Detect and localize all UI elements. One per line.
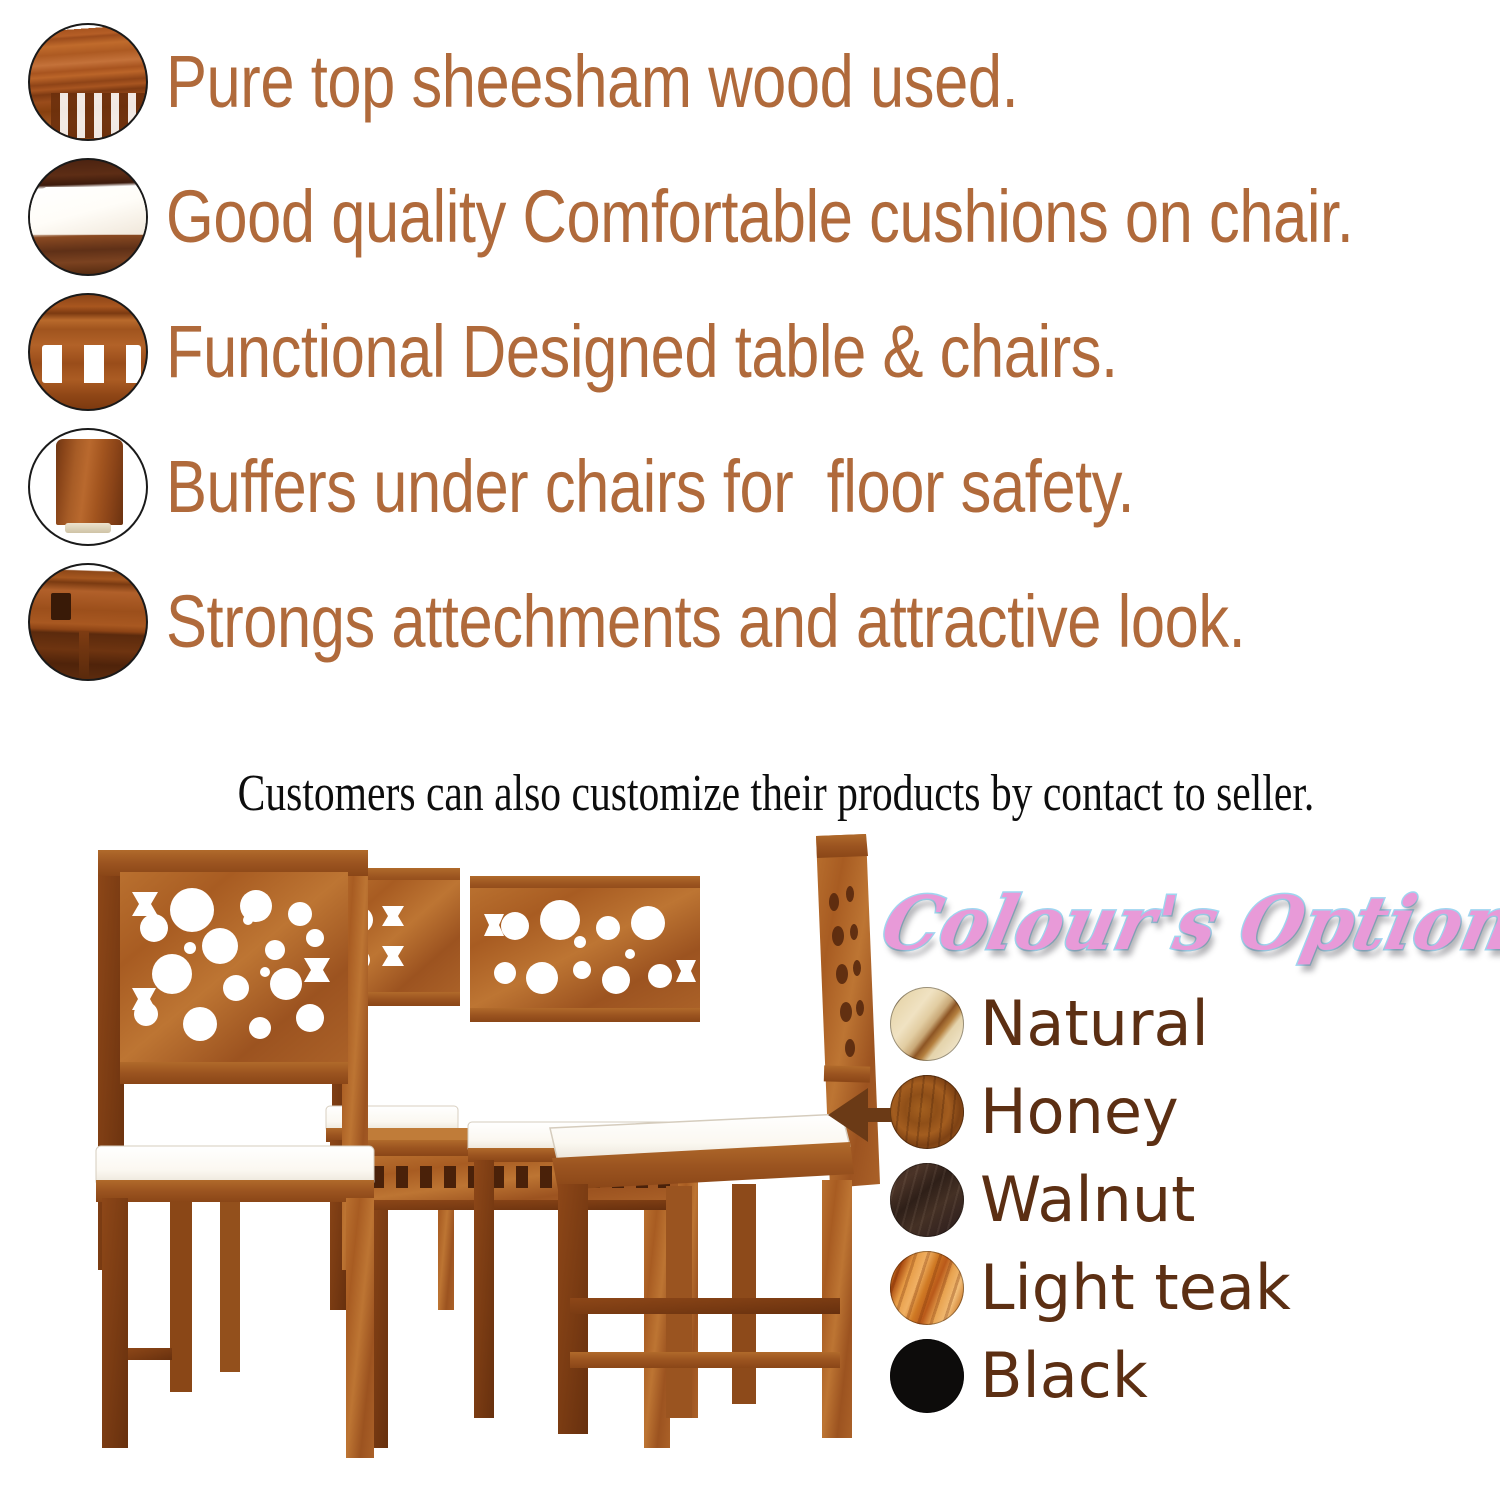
colour-swatch-label: Honey xyxy=(980,1081,1179,1143)
chair-cushion-icon xyxy=(28,158,148,276)
customize-note-text: Customers can also customize their produ… xyxy=(238,768,1315,820)
feature-label: Pure top sheesham wood used. xyxy=(166,45,1018,119)
colour-swatch-item[interactable]: Light teak xyxy=(890,1244,1488,1332)
feature-item: Functional Designed table & chairs. xyxy=(0,284,1500,419)
walnut-swatch-icon xyxy=(890,1163,964,1237)
feature-item: Good quality Comfortable cushions on cha… xyxy=(0,149,1500,284)
feature-item: Buffers under chairs for floor safety. xyxy=(0,419,1500,554)
honey-swatch-icon xyxy=(890,1075,964,1149)
colour-swatch-item[interactable]: Honey xyxy=(890,1068,1488,1156)
light-teak-swatch-icon xyxy=(890,1251,964,1325)
carved-slat-detail-icon xyxy=(28,293,148,411)
joint-attachment-icon xyxy=(28,563,148,681)
colour-options-title: Colour's Options xyxy=(874,876,1480,972)
sheesham-dining-set-photo xyxy=(60,828,930,1468)
colour-swatch-label: Walnut xyxy=(980,1169,1195,1231)
natural-swatch-icon xyxy=(890,987,964,1061)
colour-swatch-item[interactable]: Black xyxy=(890,1332,1488,1420)
feature-label: Strongs attechments and attractive look. xyxy=(166,585,1245,659)
colour-swatch-item[interactable]: Walnut xyxy=(890,1156,1488,1244)
colour-swatch-label: Light teak xyxy=(980,1257,1291,1319)
black-swatch-icon xyxy=(890,1339,964,1413)
table-top-edge-icon xyxy=(28,23,148,141)
feature-item: Strongs attechments and attractive look. xyxy=(0,554,1500,689)
infographic-page: Pure top sheesham wood used. Good qualit… xyxy=(0,0,1500,1500)
chair-leg-buffer-icon xyxy=(28,428,148,546)
feature-label: Functional Designed table & chairs. xyxy=(166,315,1118,389)
colour-swatch-list: Natural Honey Walnut Light teak Black xyxy=(890,980,1488,1420)
colour-swatch-item[interactable]: Natural xyxy=(890,980,1488,1068)
chair-front-left xyxy=(96,850,374,1458)
feature-item: Pure top sheesham wood used. xyxy=(0,14,1500,149)
colour-swatch-label: Natural xyxy=(980,993,1209,1055)
feature-label: Good quality Comfortable cushions on cha… xyxy=(166,180,1353,254)
colour-options-panel: Colour's Options Natural Honey Walnut L xyxy=(860,876,1488,1436)
feature-label: Buffers under chairs for floor safety. xyxy=(166,450,1134,524)
feature-list: Pure top sheesham wood used. Good qualit… xyxy=(0,14,1500,689)
colour-swatch-label: Black xyxy=(980,1345,1148,1407)
